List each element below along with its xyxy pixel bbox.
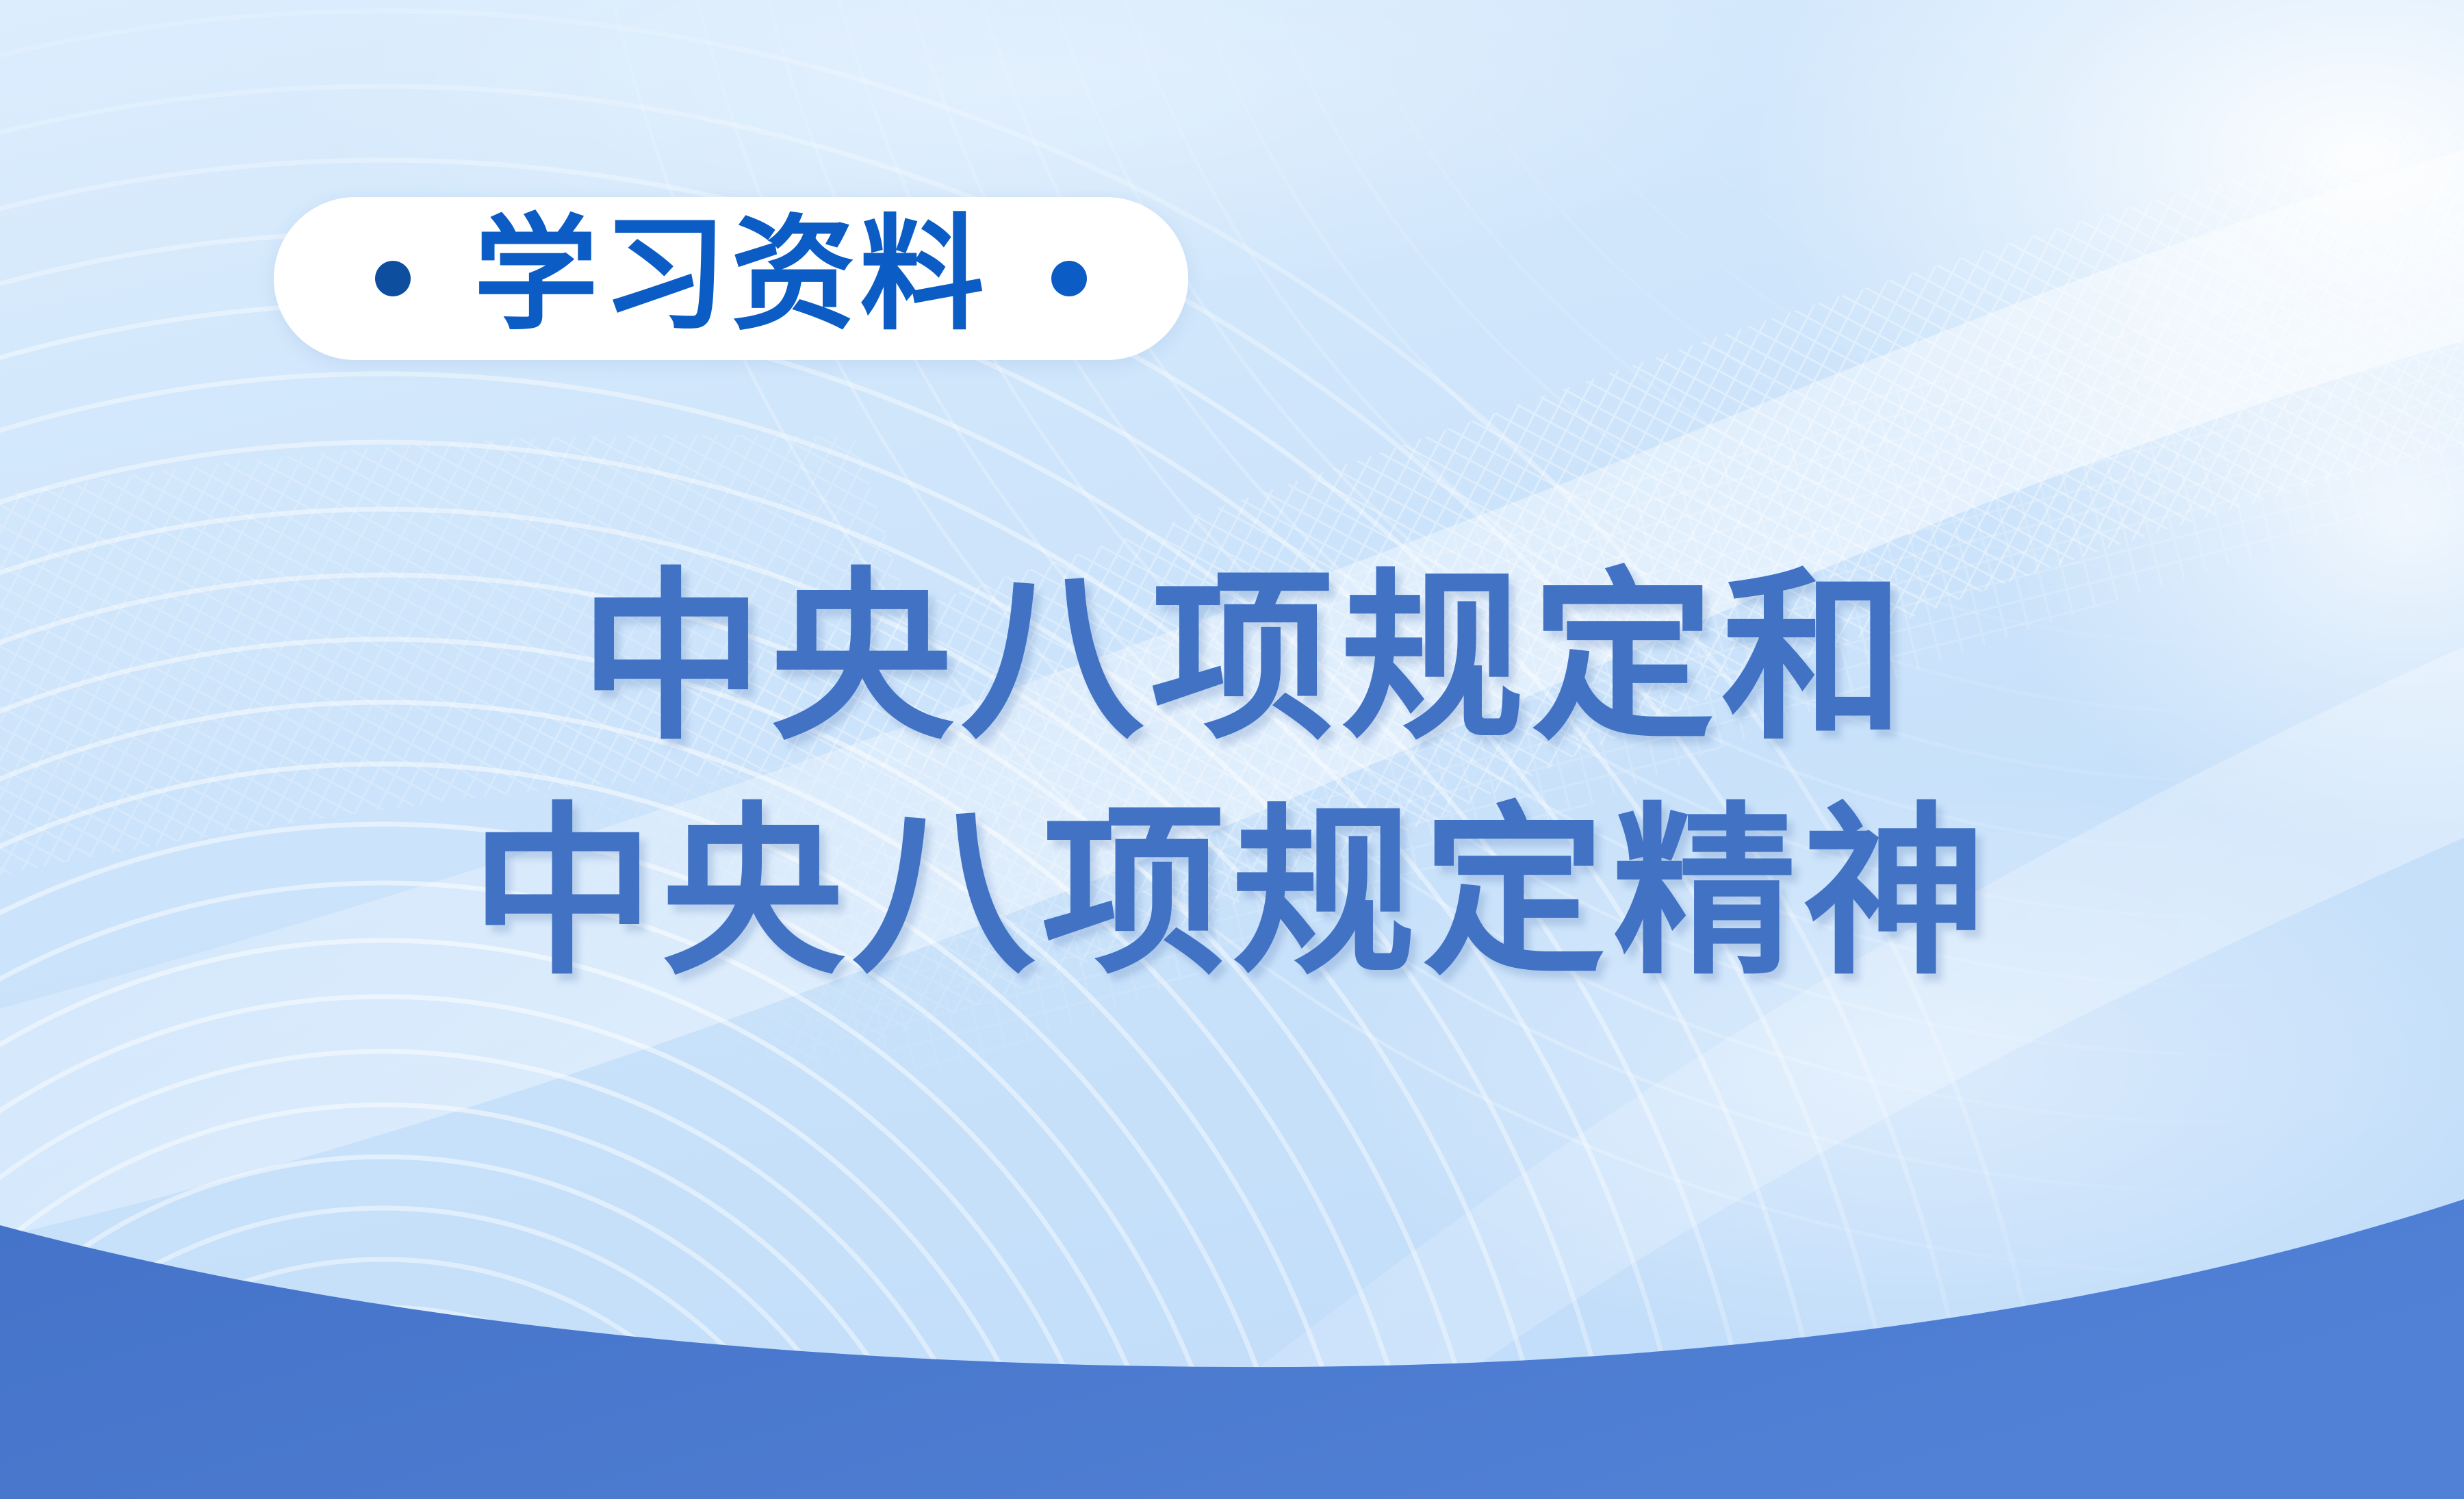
poster-title-line-1: 中央八项规定和 <box>0 541 2464 776</box>
category-badge[interactable]: 学习资料 <box>274 197 1188 360</box>
bullet-dot-left-icon <box>375 261 411 296</box>
poster-title: 中央八项规定和 中央八项规定精神 <box>0 541 2464 1010</box>
bullet-dot-right-icon <box>1051 261 1087 296</box>
poster-canvas: 学习资料 中央八项规定和 中央八项规定精神 <box>0 0 2464 1499</box>
poster-title-line-2: 中央八项规定精神 <box>0 776 2464 1010</box>
category-badge-label: 学习资料 <box>474 212 988 337</box>
bottom-wave-shape <box>0 1199 2464 1499</box>
